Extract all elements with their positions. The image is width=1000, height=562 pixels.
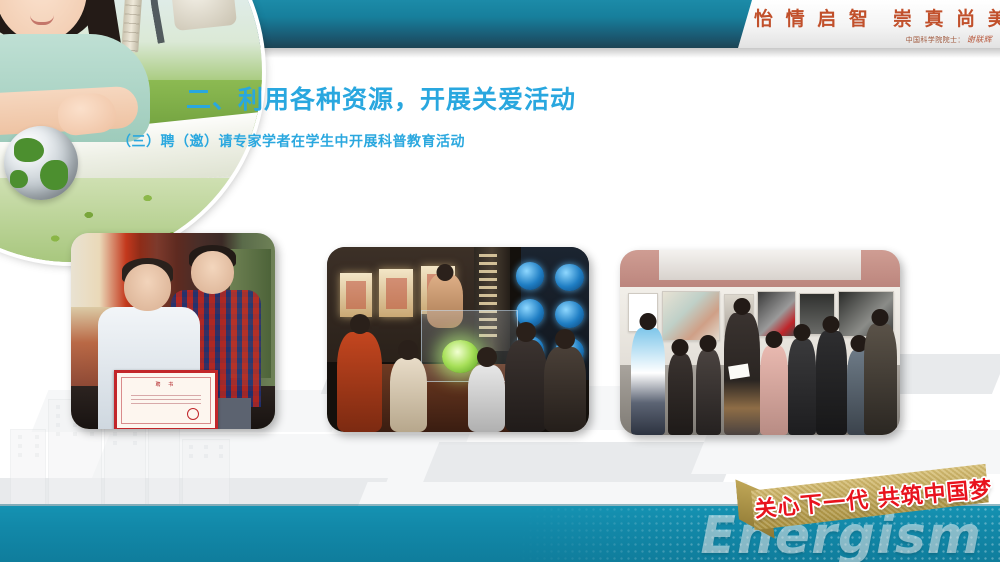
calligraphy-main-text: 怡 情 启 智 崇 真 尚 美 [754, 4, 994, 31]
certificate-title: 聘 书 [117, 381, 215, 388]
photo2-student [337, 332, 382, 432]
photo3-student [668, 354, 693, 435]
photo-certificate-presentation[interactable]: 聘 书 [71, 233, 275, 429]
photo3-notebook-paper [728, 363, 749, 379]
photo3-student [760, 346, 788, 435]
photo2-blue-orb [555, 264, 584, 292]
photo2-student [390, 358, 427, 432]
header-bar-shadow [150, 48, 1000, 58]
photo-museum-exhibit-visit[interactable] [327, 247, 589, 432]
photo2-student [505, 340, 547, 433]
photo2-blue-orb [555, 301, 584, 329]
page-subtitle: （三）聘（邀）请专家学者在学生中开展科普教育活动 [117, 131, 465, 151]
photo2-student [468, 365, 505, 432]
photo3-student-tracksuit [631, 328, 665, 435]
calligraphy-signature: 谢联辉 [967, 35, 992, 44]
photo1-man-left-face [124, 264, 171, 311]
photo-exhibition-hall-students[interactable] [620, 250, 900, 435]
photo3-ceiling-inset [659, 250, 861, 280]
photo2-blue-orb [516, 262, 545, 290]
certificate-document: 聘 书 [114, 370, 218, 429]
calligraphy-attribution-label: 中国科学院院士： [906, 36, 965, 44]
photo3-exhibit-panel [757, 291, 795, 337]
photo1-man-right-face [191, 251, 234, 294]
photo-gallery: 聘 书 [0, 225, 1000, 440]
photo3-student [816, 331, 847, 435]
photo3-exhibit-panel [662, 291, 720, 341]
page-title: 二、利用各种资源，开展关爱活动 [186, 80, 576, 116]
photo2-display-case-2 [379, 269, 413, 317]
globe-icon [4, 126, 78, 200]
certificate-text-lines [131, 395, 202, 396]
photo3-student [696, 350, 721, 435]
presentation-slide: 怡 情 启 智 崇 真 尚 美 中国科学院院士：谢联辉 二、利用各种资源，开展关… [0, 0, 1000, 562]
photo2-student [544, 347, 586, 432]
photo3-student [864, 324, 898, 435]
photo2-display-case-1 [340, 273, 371, 317]
calligraphy-banner: 怡 情 启 智 崇 真 尚 美 中国科学院院士：谢联辉 [738, 0, 1000, 48]
calligraphy-attribution: 中国科学院院士：谢联辉 [906, 34, 992, 45]
photo3-student [788, 339, 816, 435]
certificate-seal [187, 408, 199, 420]
